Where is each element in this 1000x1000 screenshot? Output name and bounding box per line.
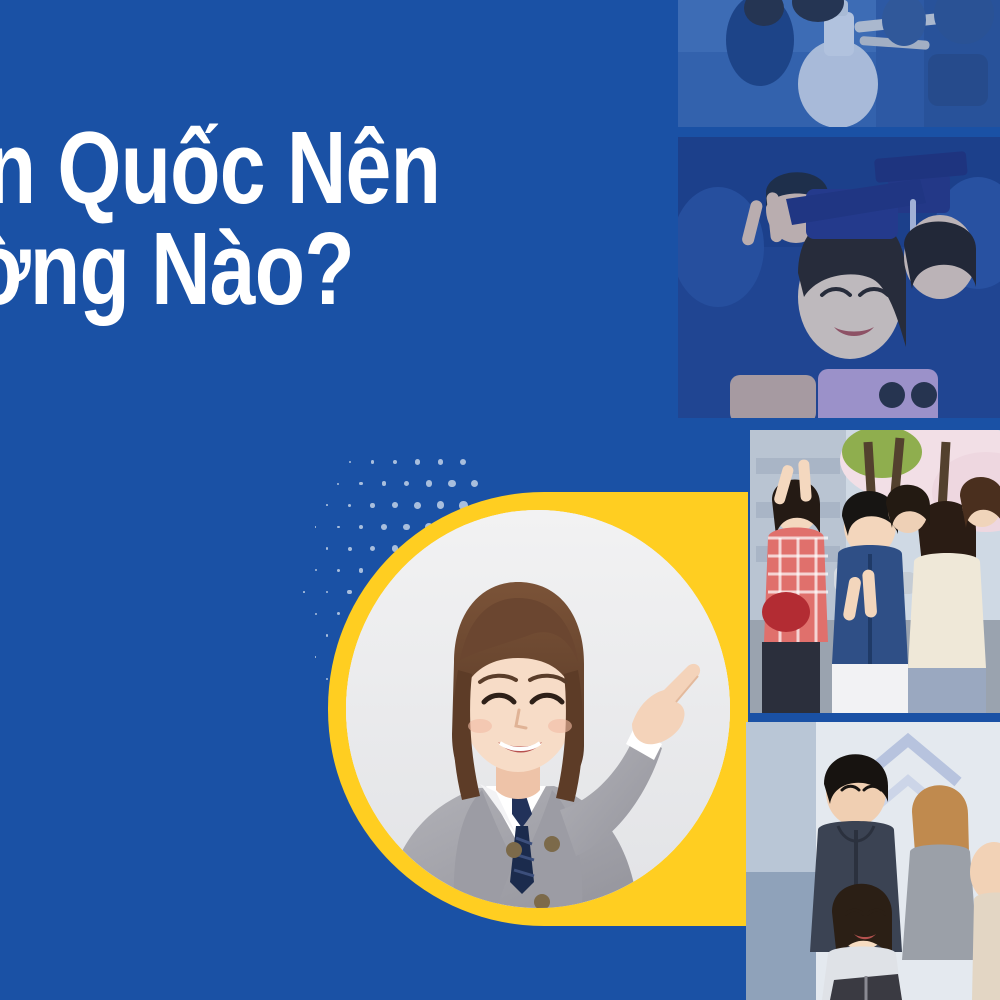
indoor-students-photo bbox=[746, 722, 1000, 1000]
headline-line-1: Hàn Quốc Nên bbox=[0, 118, 538, 219]
subtitle-bottom: ầm bbox=[0, 602, 314, 656]
page-title: Hàn Quốc Nên rường Nào? bbox=[0, 118, 538, 320]
photo-grid bbox=[678, 0, 1000, 1000]
headline-line-2: rường Nào? bbox=[0, 219, 538, 320]
portrait-photo bbox=[346, 510, 730, 908]
graduation-photo bbox=[678, 137, 1000, 418]
classroom-lamp-photo bbox=[678, 0, 1000, 127]
subtitle-top: tốt bbox=[0, 440, 342, 490]
cherry-blossom-group-photo bbox=[750, 430, 1000, 713]
poster-canvas: Hàn Quốc Nên rường Nào? tốt ầm bbox=[0, 0, 1000, 1000]
